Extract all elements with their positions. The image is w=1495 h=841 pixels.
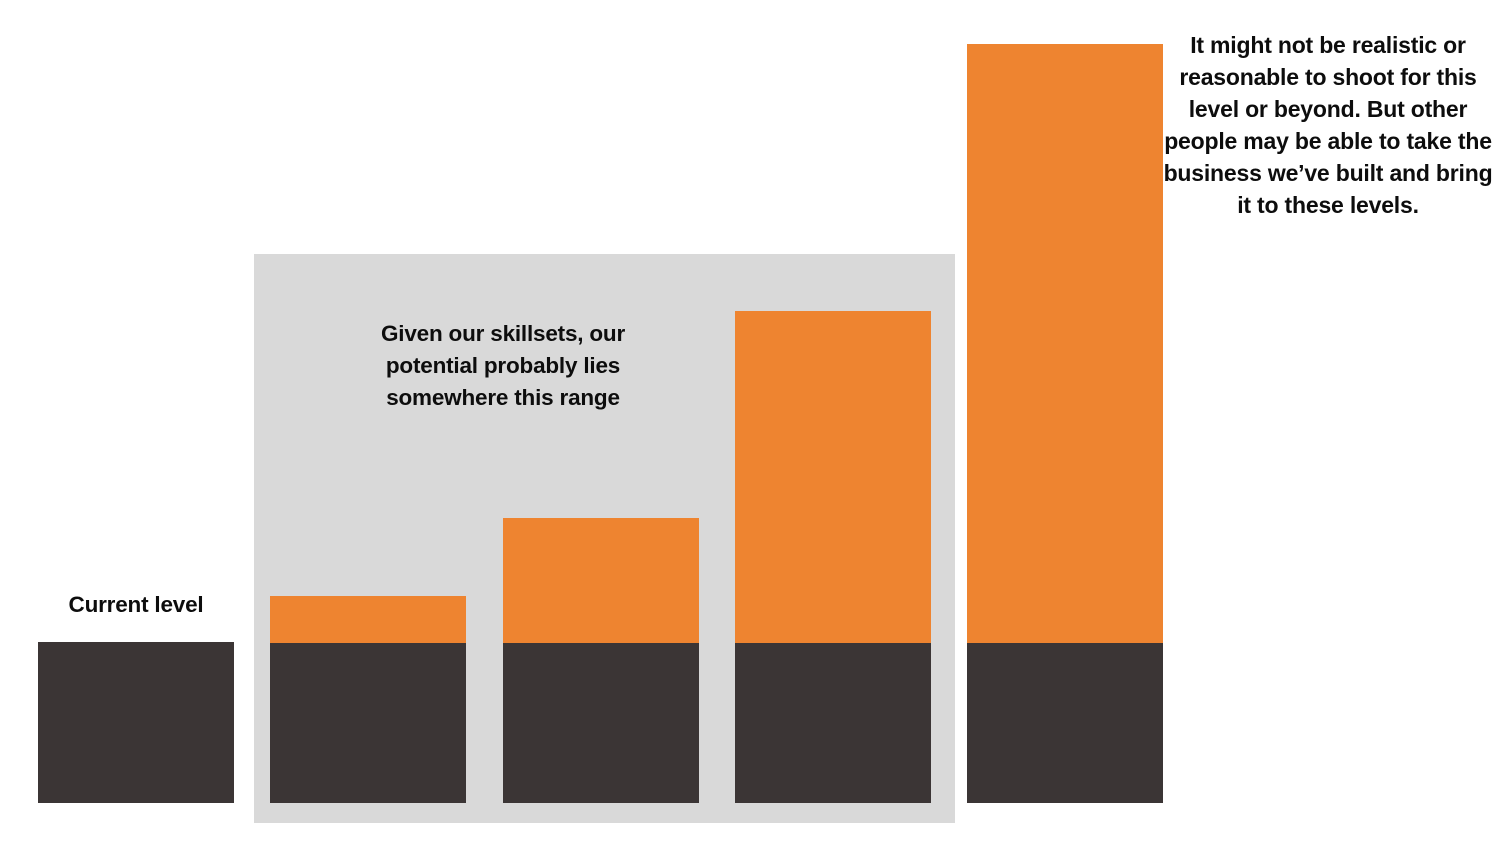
bar-segment-current bbox=[503, 643, 699, 803]
bar-segment-potential bbox=[967, 44, 1163, 643]
bar-current-level[interactable] bbox=[38, 642, 234, 803]
current-level-label: Current level bbox=[38, 591, 234, 619]
bar-step-4[interactable] bbox=[967, 44, 1163, 803]
bar-step-1[interactable] bbox=[270, 596, 466, 803]
bar-segment-current bbox=[270, 643, 466, 803]
bar-segment-potential bbox=[270, 596, 466, 643]
bar-segment-current bbox=[38, 642, 234, 803]
bar-segment-current bbox=[967, 643, 1163, 803]
potential-range-annotation: Given our skillsets, our potential proba… bbox=[336, 318, 670, 414]
bar-segment-potential bbox=[735, 311, 931, 643]
bar-segment-potential bbox=[503, 518, 699, 643]
bar-step-3[interactable] bbox=[735, 311, 931, 803]
chart-canvas: Current level Given our skillsets, our p… bbox=[0, 0, 1495, 841]
bar-step-2[interactable] bbox=[503, 518, 699, 803]
bar-segment-current bbox=[735, 643, 931, 803]
stretch-level-annotation: It might not be realistic or reasonable … bbox=[1163, 29, 1493, 221]
